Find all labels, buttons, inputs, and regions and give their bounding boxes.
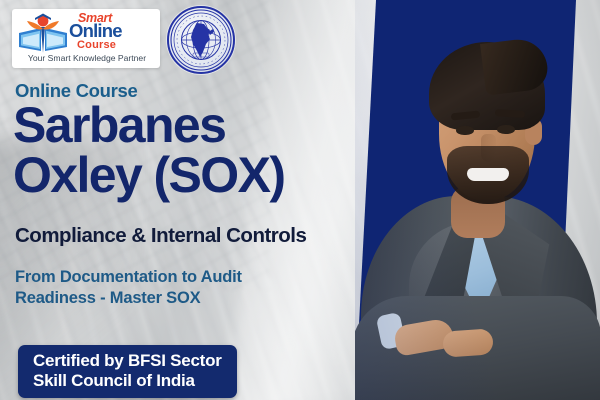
logo-word-online: Online [69,22,122,41]
title-line-1: Sarbanes [13,97,225,153]
accreditation-seal[interactable] [167,6,235,74]
course-promo-banner: Smart Online Course Your Smart Knowledge… [0,0,600,400]
certification-badge: Certified by BFSI Sector Skill Council o… [18,345,237,398]
photo-edge-shading [355,0,600,400]
certification-line-2: Skill Council of India [33,371,222,391]
logo-word-course: Course [77,40,116,51]
person-with-open-book-icon [17,13,69,55]
certification-line-1: Certified by BFSI Sector [33,351,222,371]
instructor-photo [355,0,600,400]
title-line-2: Oxley (SOX) [13,151,284,201]
page-title: Sarbanes Oxley (SOX) [13,101,284,200]
course-tagline: From Documentation to Audit Readiness - … [15,267,242,309]
course-subtitle: Compliance & Internal Controls [15,226,306,247]
tagline-line-1: From Documentation to Audit [15,267,242,288]
globe-with-india-map-seal-icon [169,8,233,72]
smart-online-course-logo[interactable]: Smart Online Course Your Smart Knowledge… [12,9,160,68]
tagline-line-2: Readiness - Master SOX [15,288,242,309]
logo-wordmark: Smart Online Course [69,11,157,55]
logo-tagline: Your Smart Knowledge Partner [19,54,155,63]
